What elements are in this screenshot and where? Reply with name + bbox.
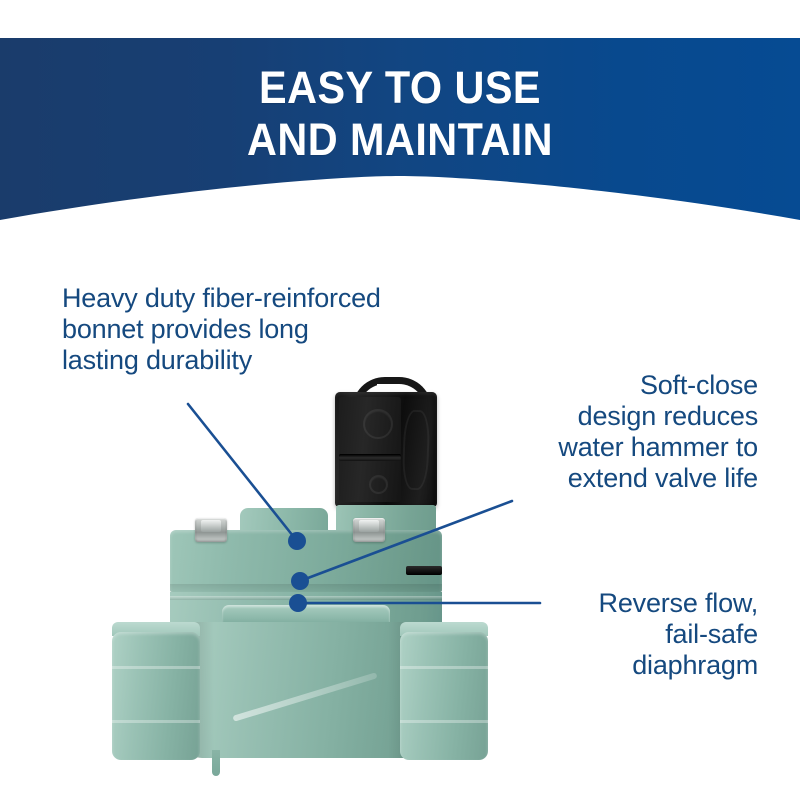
- banner-title: EASY TO USE AND MAINTAIN: [32, 62, 768, 166]
- callout-soft-close-text: Soft-close design reduces water hammer t…: [428, 370, 758, 494]
- solenoid-emboss-lower: [369, 475, 388, 494]
- bonnet-bolt-left: [195, 518, 227, 542]
- inlet-port-facet-2: [112, 720, 200, 723]
- bonnet-bolt-right: [353, 518, 385, 542]
- bonnet-body-seam: [170, 596, 442, 600]
- product-feature-graphic: EASY TO USE AND MAINTAIN: [0, 0, 800, 800]
- solenoid-brand-emboss: [402, 410, 431, 491]
- solenoid-front-face: [339, 397, 401, 502]
- lower-body-drip-tab: [212, 750, 220, 776]
- outlet-port-facet-2: [400, 720, 488, 723]
- header-banner: EASY TO USE AND MAINTAIN: [0, 38, 800, 220]
- solenoid-coil: [335, 392, 437, 507]
- inlet-port: [112, 632, 200, 760]
- flow-control-lever: [406, 566, 442, 575]
- inlet-port-facet-1: [112, 666, 200, 669]
- solenoid-emboss-upper: [363, 409, 393, 439]
- callout-bonnet-text: Heavy duty fiber-reinforced bonnet provi…: [62, 283, 482, 376]
- callout-diaphragm-text: Reverse flow, fail-safe diaphragm: [438, 588, 758, 681]
